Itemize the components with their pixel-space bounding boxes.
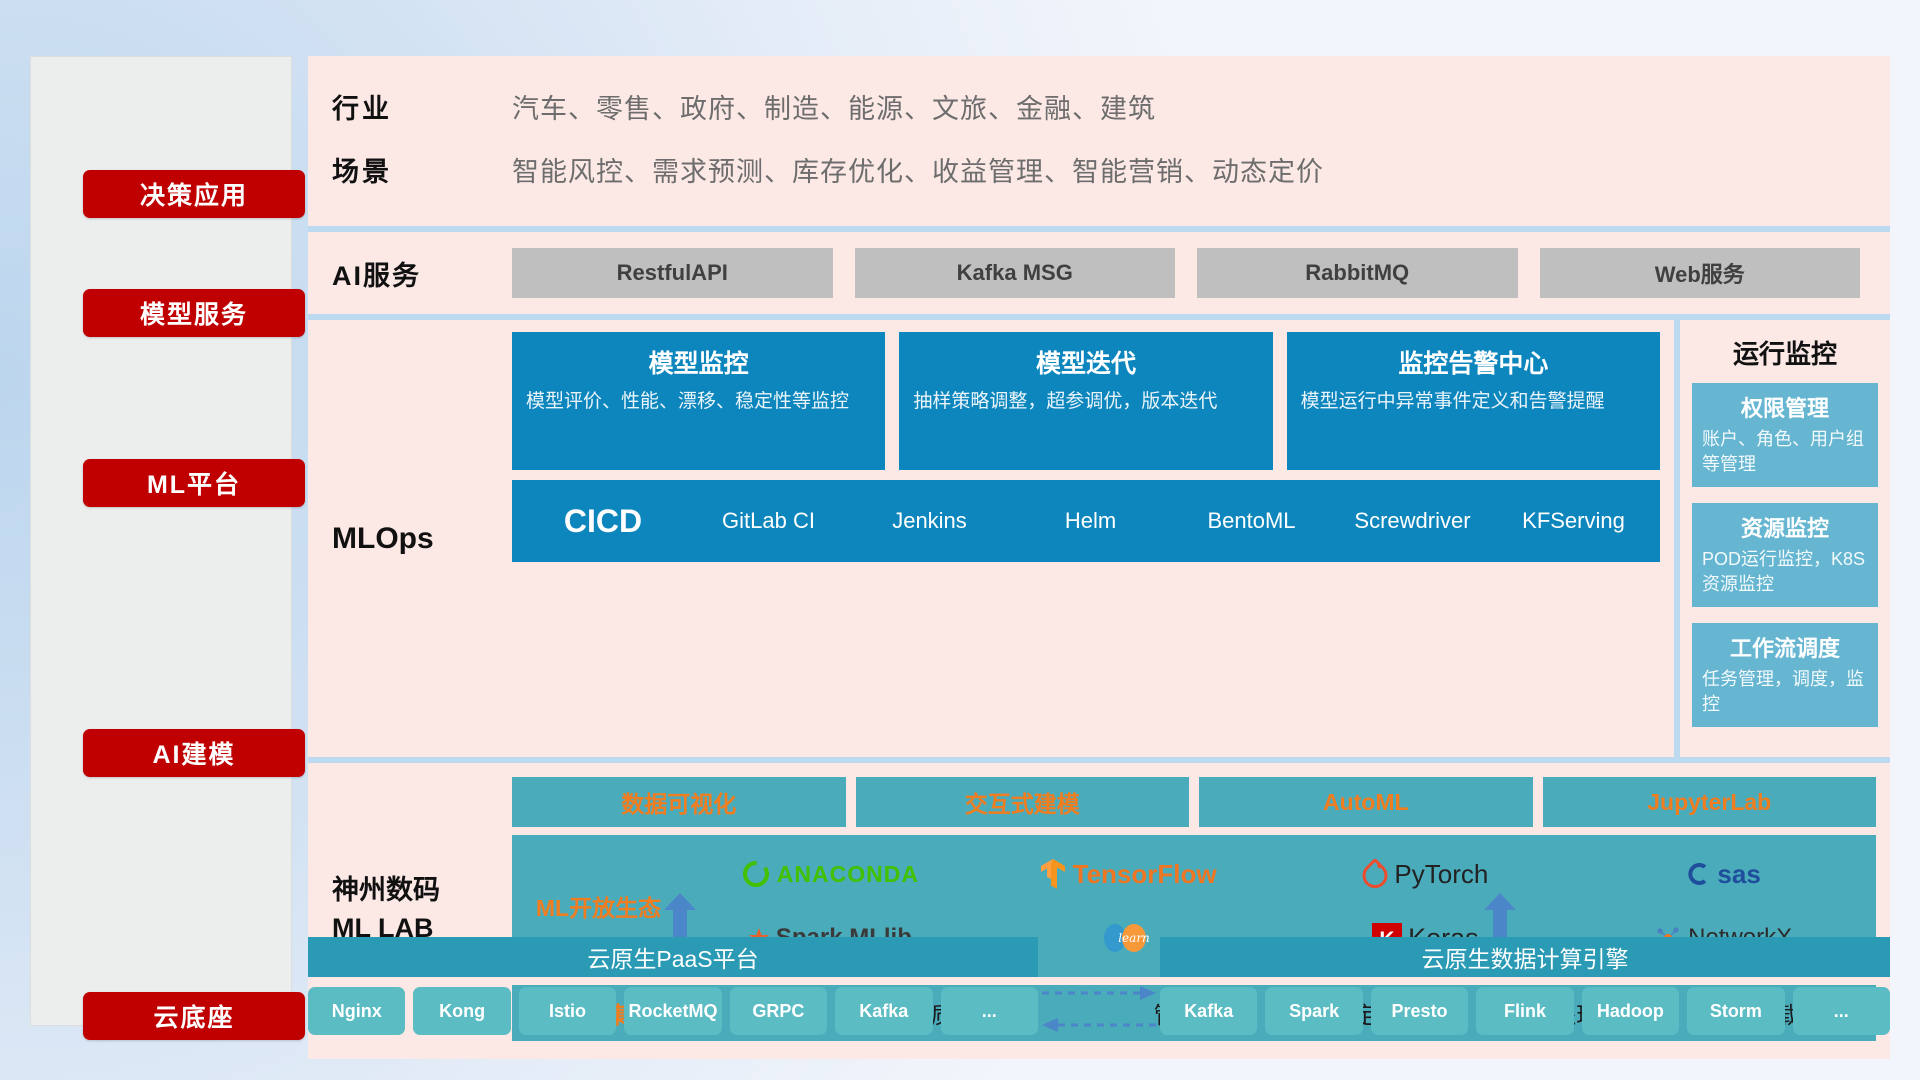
cicd-tool-kfserving[interactable]: KFServing (1493, 508, 1654, 534)
monitor-card-title: 权限管理 (1702, 391, 1868, 423)
cicd-tool-gitlab-ci[interactable]: GitLab CI (688, 508, 849, 534)
paas-box: 云原生PaaS平台 Nginx Kong Istio RocketMQ GRPC… (308, 937, 1038, 1035)
ml-lab-tabs: 数据可视化 交互式建模 AutoML JupyterLab (512, 777, 1876, 827)
paas-title: 云原生PaaS平台 (308, 937, 1038, 977)
paas-item-nginx[interactable]: Nginx (308, 987, 405, 1035)
mlops-card-row: 模型监控 模型评价、性能、漂移、稳定性等监控 模型迭代 抽样策略调整，超参调优，… (512, 332, 1660, 470)
tab-interactive-modeling[interactable]: 交互式建模 (856, 777, 1190, 827)
monitor-card-resource[interactable]: 资源监控 POD运行监控，K8S资源监控 (1692, 503, 1878, 607)
monitor-card-workflow[interactable]: 工作流调度 任务管理，调度，监控 (1692, 623, 1878, 727)
paas-pills: Nginx Kong Istio RocketMQ GRPC Kafka ... (308, 987, 1038, 1035)
service-rabbitmq[interactable]: RabbitMQ (1197, 248, 1518, 298)
run-monitor-panel: 运行监控 权限管理 账户、角色、用户组等管理 资源监控 POD运行监控，K8S资… (1674, 320, 1890, 757)
service-web[interactable]: Web服务 (1540, 248, 1861, 298)
sas-label: sas (1717, 859, 1760, 890)
layer-chip-ml-platform[interactable]: ML平台 (83, 459, 305, 507)
decision-app-band: 行业 场景 汽车、零售、政府、制造、能源、文旅、金融、建筑 智能风控、需求预测、… (308, 56, 1890, 226)
compute-item-spark[interactable]: Spark (1265, 987, 1362, 1035)
cicd-tool-jenkins[interactable]: Jenkins (849, 508, 1010, 534)
monitor-card-title: 工作流调度 (1702, 631, 1868, 663)
industry-value: 汽车、零售、政府、制造、能源、文旅、金融、建筑 (512, 78, 1890, 141)
monitor-card-title: 资源监控 (1702, 511, 1868, 543)
cicd-label: CICD (518, 503, 688, 540)
ai-service-band: AI服务 RestfulAPI Kafka MSG RabbitMQ Web服务 (308, 226, 1890, 314)
mlops-card-model-monitor[interactable]: 模型监控 模型评价、性能、漂移、稳定性等监控 (512, 332, 885, 470)
scenario-label: 场景 (332, 141, 512, 204)
mlops-card-title: 模型监控 (526, 344, 871, 380)
compute-pills: Kafka Spark Presto Flink Hadoop Storm ..… (1160, 987, 1890, 1035)
paas-item-rocketmq[interactable]: RocketMQ (624, 987, 721, 1035)
industry-label: 行业 (332, 78, 512, 141)
ml-lab-label-line1: 神州数码 (332, 871, 440, 909)
compute-item-flink[interactable]: Flink (1476, 987, 1573, 1035)
ai-service-buttons: RestfulAPI Kafka MSG RabbitMQ Web服务 (512, 248, 1860, 298)
paas-item-kong[interactable]: Kong (413, 987, 510, 1035)
pytorch-logo: PyTorch (1277, 844, 1575, 904)
anaconda-label: ANACONDA (777, 861, 919, 888)
tensorflow-logo: TensorFlow (979, 844, 1277, 904)
sas-logo: sas (1574, 844, 1872, 904)
ml-platform-band: MLOps 模型监控 模型评价、性能、漂移、稳定性等监控 模型迭代 抽样策略调整… (308, 314, 1890, 757)
monitor-card-desc: 任务管理，调度，监控 (1702, 667, 1868, 717)
mlops-label: MLOps (308, 332, 512, 745)
cicd-row: CICD GitLab CI Jenkins Helm BentoML Scre… (512, 480, 1660, 562)
tab-automl[interactable]: AutoML (1199, 777, 1533, 827)
tensorflow-label: TensorFlow (1073, 859, 1217, 890)
arrow-up-paas-icon (663, 893, 697, 937)
paas-item-grpc[interactable]: GRPC (730, 987, 827, 1035)
compute-item-hadoop[interactable]: Hadoop (1582, 987, 1679, 1035)
paas-item-more[interactable]: ... (941, 987, 1038, 1035)
compute-item-presto[interactable]: Presto (1371, 987, 1468, 1035)
ai-service-label: AI服务 (308, 254, 512, 293)
layer-chip-cloud-base[interactable]: 云底座 (83, 992, 305, 1040)
monitor-card-desc: 账户、角色、用户组等管理 (1702, 427, 1868, 477)
scenario-value: 智能风控、需求预测、库存优化、收益管理、智能营销、动态定价 (512, 141, 1890, 204)
decision-app-labels: 行业 场景 (308, 78, 512, 204)
layer-chip-model-service[interactable]: 模型服务 (83, 289, 305, 337)
compute-item-storm[interactable]: Storm (1687, 987, 1784, 1035)
cicd-tool-screwdriver[interactable]: Screwdriver (1332, 508, 1493, 534)
mlops-card-desc: 模型评价、性能、漂移、稳定性等监控 (526, 388, 871, 415)
layer-chip-decision-app[interactable]: 决策应用 (83, 170, 305, 218)
run-monitor-title: 运行监控 (1692, 334, 1878, 371)
paas-item-istio[interactable]: Istio (519, 987, 616, 1035)
tab-data-visualization[interactable]: 数据可视化 (512, 777, 846, 827)
compute-title: 云原生数据计算引擎 (1160, 937, 1890, 977)
cloud-base-section: 云原生PaaS平台 Nginx Kong Istio RocketMQ GRPC… (308, 905, 1890, 1055)
mlops-card-title: 模型迭代 (913, 344, 1258, 380)
arrow-up-compute-icon (1483, 893, 1517, 937)
compute-box: 云原生数据计算引擎 Kafka Spark Presto Flink Hadoo… (1160, 937, 1890, 1035)
cicd-tool-bentoml[interactable]: BentoML (1171, 508, 1332, 534)
architecture-diagram: 决策应用 模型服务 ML平台 AI建模 云底座 行业 场景 汽车、零售、政府、制… (0, 0, 1920, 1080)
decision-app-values: 汽车、零售、政府、制造、能源、文旅、金融、建筑 智能风控、需求预测、库存优化、收… (512, 78, 1890, 204)
service-kafka-msg[interactable]: Kafka MSG (855, 248, 1176, 298)
pytorch-label: PyTorch (1394, 859, 1488, 890)
tab-jupyterlab[interactable]: JupyterLab (1543, 777, 1877, 827)
compute-item-kafka[interactable]: Kafka (1160, 987, 1257, 1035)
anaconda-logo: ANACONDA (681, 844, 979, 904)
mlops-section: MLOps 模型监控 模型评价、性能、漂移、稳定性等监控 模型迭代 抽样策略调整… (308, 320, 1674, 757)
monitor-card-permission[interactable]: 权限管理 账户、角色、用户组等管理 (1692, 383, 1878, 487)
layer-rail: 决策应用 模型服务 ML平台 AI建模 云底座 (30, 56, 292, 1026)
mlops-card-alert-center[interactable]: 监控告警中心 模型运行中异常事件定义和告警提醒 (1287, 332, 1660, 470)
service-restful-api[interactable]: RestfulAPI (512, 248, 833, 298)
compute-item-more[interactable]: ... (1793, 987, 1890, 1035)
monitor-card-desc: POD运行监控，K8S资源监控 (1702, 547, 1868, 597)
cicd-tool-helm[interactable]: Helm (1010, 508, 1171, 534)
paas-compute-link-arrows (1040, 983, 1158, 1035)
mlops-card-title: 监控告警中心 (1301, 344, 1646, 380)
mlops-card-desc: 模型运行中异常事件定义和告警提醒 (1301, 388, 1646, 415)
mlops-card-model-iteration[interactable]: 模型迭代 抽样策略调整，超参调优，版本迭代 (899, 332, 1272, 470)
layer-chip-ai-modeling[interactable]: AI建模 (83, 729, 305, 777)
mlops-card-desc: 抽样策略调整，超参调优，版本迭代 (913, 388, 1258, 415)
paas-item-kafka[interactable]: Kafka (835, 987, 932, 1035)
